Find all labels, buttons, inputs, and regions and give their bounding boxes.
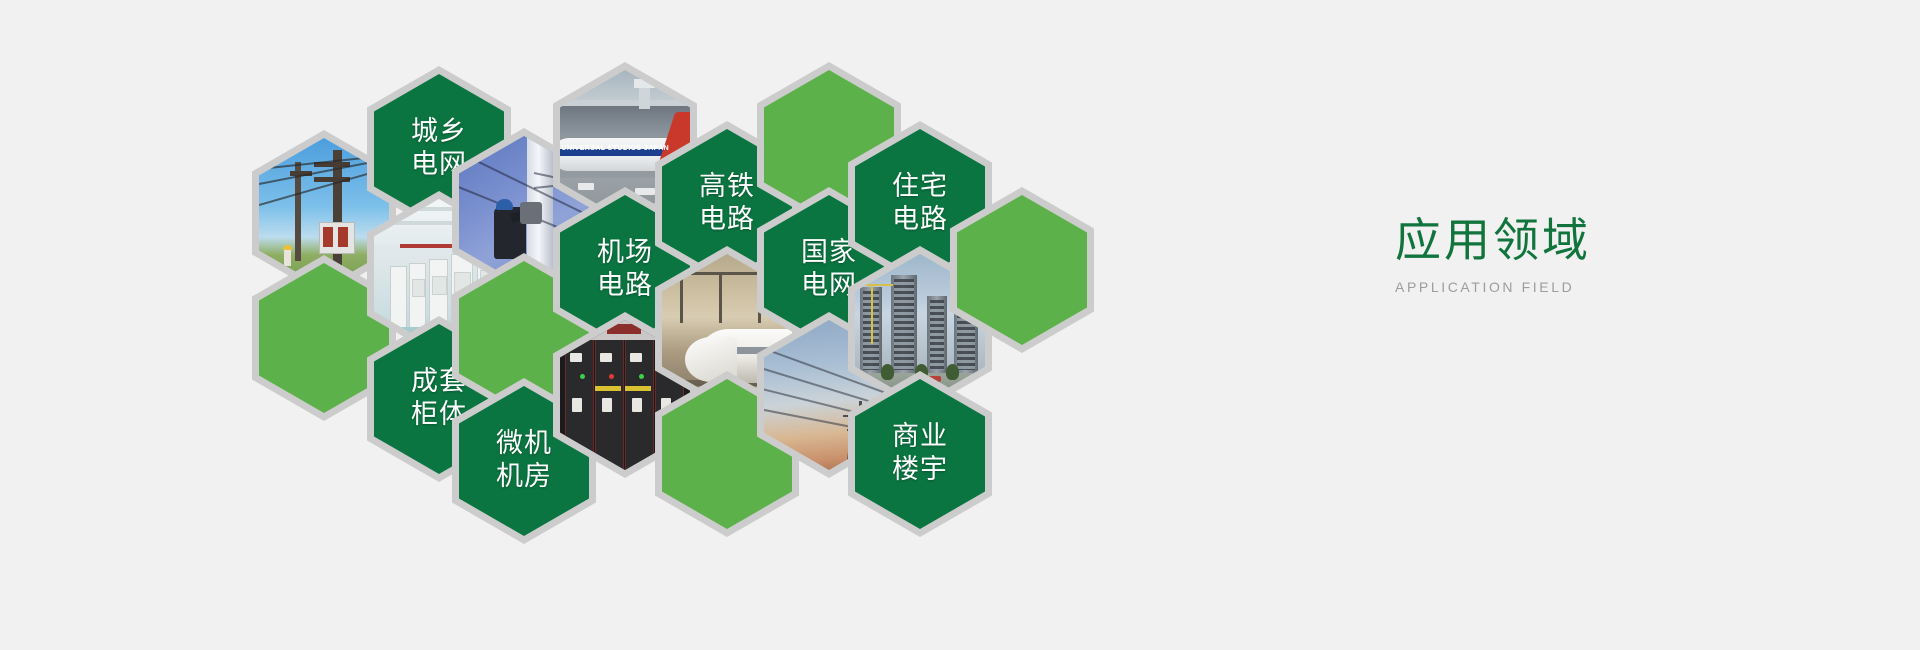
application-field-banner: 城乡 电网 成套 柜体 <box>0 0 1920 650</box>
page-subtitle: APPLICATION FIELD <box>1395 279 1815 295</box>
plane-livery-text: UNIVERSAL STUDIOS JAPAN <box>561 145 669 152</box>
page-title: 应用领域 <box>1395 215 1815 266</box>
hex-caption: 住宅 电路 <box>892 171 948 237</box>
hex-caption: 微机 机房 <box>496 428 552 494</box>
hex-caption: 高铁 电路 <box>699 171 755 237</box>
hex-caption: 机场 电路 <box>597 237 653 303</box>
heading-block: 应用领域 APPLICATION FIELD <box>1395 215 1815 295</box>
hex-caption: 商业 楼宇 <box>892 421 948 487</box>
